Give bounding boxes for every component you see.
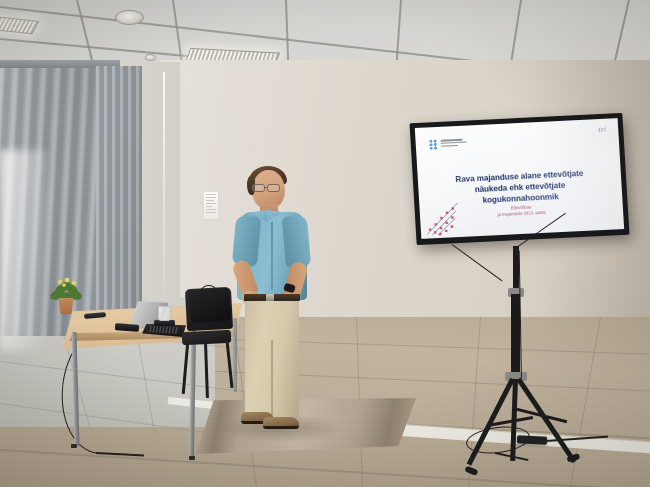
smoke-detector-icon: [145, 54, 156, 61]
tv-bezel: tri Rava majanduse alane ettevõtjate näu…: [410, 113, 630, 245]
shoe-sole-right: [263, 426, 299, 429]
round-ceiling-fixture: [115, 10, 144, 25]
plant-leaves-icon: [48, 275, 85, 302]
table-leg-foot: [189, 456, 195, 460]
drinking-glass[interactable]: [158, 306, 171, 321]
shirt-sleeve-left: [232, 215, 261, 267]
shirt-sleeve-right: [282, 215, 311, 269]
shirt-placket: [271, 222, 273, 290]
belt-buckle: [266, 294, 274, 301]
logo-mark-icon: [428, 139, 438, 150]
slide-decoration-dots: [423, 196, 483, 237]
tv-display[interactable]: tri Rava majanduse alane ettevõtjate näu…: [413, 118, 628, 248]
slide-brand-mark: tri: [598, 127, 607, 135]
recessed-grid-light: [0, 16, 39, 35]
trouser-seam: [271, 340, 273, 418]
floor-power-strip: [517, 435, 547, 445]
ceiling-grid-line: [613, 0, 629, 64]
wall-notice-sheet: [204, 192, 218, 219]
tv-screen[interactable]: tri Rava majanduse alane ettevõtjate näu…: [415, 118, 624, 239]
glasses-lens-right: [267, 184, 280, 192]
window-curtain-panel[interactable]: [96, 66, 142, 314]
logo-wordmark: [440, 138, 466, 147]
presenter: [221, 160, 331, 450]
floor-tile-seam: [0, 449, 650, 487]
table-leg-foot: [71, 444, 77, 448]
window-daylight-glow: [0, 150, 46, 350]
photo-scene: tri Rava majanduse alane ettevõtjate näu…: [0, 0, 650, 487]
glasses-bridge: [265, 187, 268, 188]
organisation-logo: [428, 138, 466, 151]
glasses-lens-left: [252, 184, 265, 192]
